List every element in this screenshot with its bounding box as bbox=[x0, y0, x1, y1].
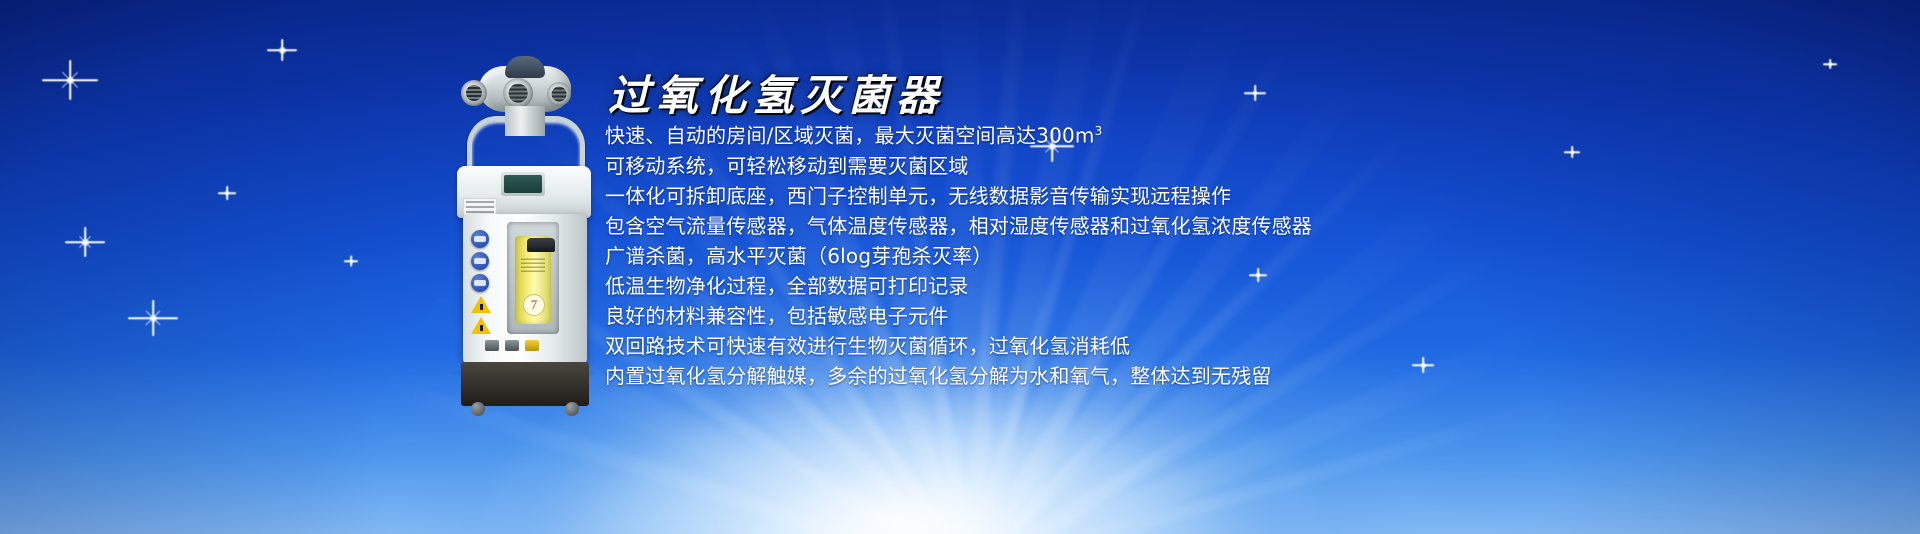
caster-wheel-icon bbox=[471, 402, 485, 416]
machine-top-cap bbox=[505, 56, 545, 78]
feature-line: 内置过氧化氢分解触媒，多余的过氧化氢分解为水和氧气，整体达到无残留 bbox=[605, 361, 1905, 391]
feature-line: 良好的材料兼容性，包括敏感电子元件 bbox=[605, 301, 1905, 331]
warning-stickers bbox=[471, 230, 493, 338]
bottle-number-badge: 7 bbox=[523, 294, 545, 316]
product-banner: 7 过氧化氢灭菌器 快速、自动的房间/区域灭菌，最大灭菌空间高达300m3 可移… bbox=[0, 0, 1920, 534]
machine-window: 7 bbox=[507, 222, 559, 334]
feature-line-superscript: 3 bbox=[1095, 124, 1103, 138]
page-title: 过氧化氢灭菌器 bbox=[608, 62, 944, 123]
feature-line: 可移动系统，可轻松移动到需要灭菌区域 bbox=[605, 151, 1905, 181]
product-image-sterilizer: 7 bbox=[443, 62, 605, 377]
machine-base bbox=[461, 362, 589, 406]
machine-neck bbox=[505, 106, 545, 136]
feature-line: 低温生物净化过程，全部数据可打印记录 bbox=[605, 271, 1905, 301]
sparkle-icon bbox=[214, 180, 240, 206]
sparkle-icon bbox=[262, 30, 302, 70]
nozzle-icon bbox=[461, 80, 487, 106]
caster-wheel-icon bbox=[565, 402, 579, 416]
mandatory-sign-icon bbox=[471, 230, 489, 248]
bottle-label-text bbox=[521, 256, 545, 272]
machine-display-screen bbox=[501, 172, 545, 196]
hazard-triangle-icon bbox=[471, 317, 491, 334]
feature-line: 一体化可拆卸底座，西门子控制单元，无线数据影音传输实现远程操作 bbox=[605, 181, 1905, 211]
hazard-triangle-icon bbox=[471, 296, 491, 313]
gloves-sign-icon bbox=[471, 274, 489, 292]
machine-control-buttons[interactable] bbox=[485, 340, 561, 352]
sparkle-icon bbox=[58, 215, 112, 269]
feature-line: 包含空气流量传感器，气体温度传感器，相对湿度传感器和过氧化氢浓度传感器 bbox=[605, 211, 1905, 241]
sparkle-icon bbox=[35, 45, 105, 115]
feature-line: 双回路技术可快速有效进行生物灭菌循环，过氧化氢消耗低 bbox=[605, 331, 1905, 361]
no-entry-sign-icon bbox=[471, 252, 489, 270]
feature-line-text: 快速、自动的房间/区域灭菌，最大灭菌空间高达300m bbox=[605, 124, 1095, 148]
feature-line: 广谱杀菌，高水平灭菌（6log芽孢杀灭率） bbox=[605, 241, 1905, 271]
sparkle-icon bbox=[120, 285, 186, 351]
sparkle-icon bbox=[340, 250, 362, 272]
feature-line: 快速、自动的房间/区域灭菌，最大灭菌空间高达300m3 bbox=[605, 116, 1905, 151]
feature-list: 快速、自动的房间/区域灭菌，最大灭菌空间高达300m3 可移动系统，可轻松移动到… bbox=[605, 116, 1905, 391]
bottle-cap bbox=[527, 238, 555, 252]
sparkle-icon bbox=[1240, 78, 1270, 108]
nozzle-icon bbox=[503, 78, 533, 108]
nozzle-icon bbox=[547, 82, 571, 106]
machine-body: 7 bbox=[463, 214, 587, 364]
peroxide-bottle: 7 bbox=[515, 236, 551, 324]
sparkle-icon bbox=[1820, 54, 1840, 74]
